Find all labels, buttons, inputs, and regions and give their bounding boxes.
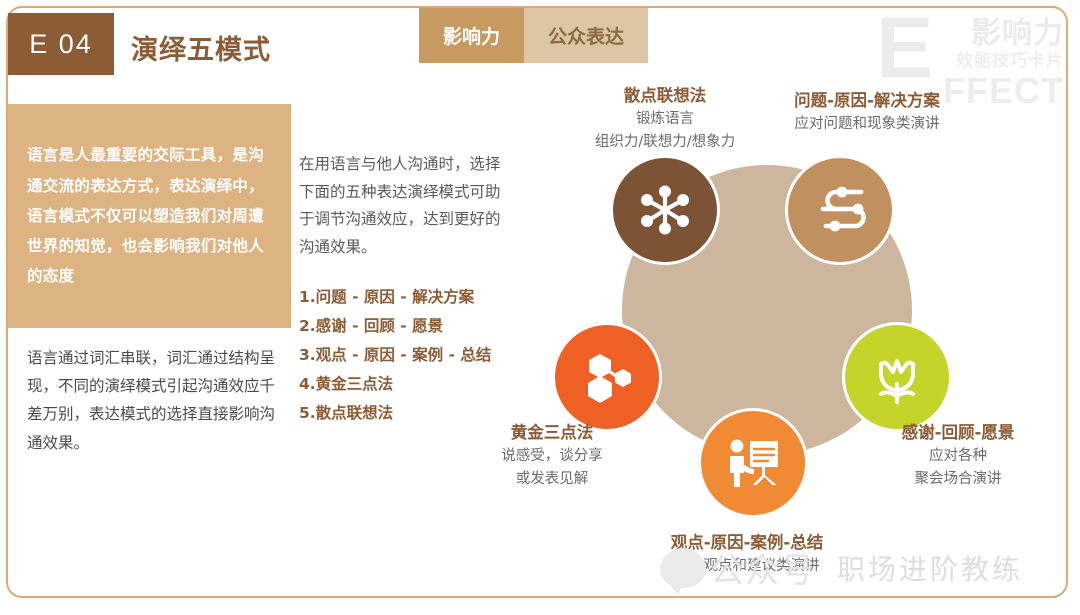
mode-list: 1.问题 - 原因 - 解决方案 2.感谢 - 回顾 - 愿景 3.观点 - 原… — [299, 283, 514, 428]
diagram-caption-gratitude: 感谢-回顾-愿景 应对各种 聚会场合演讲 — [868, 422, 1048, 489]
caption-title-gratitude: 感谢-回顾-愿景 — [868, 422, 1048, 444]
left-note-text: 语言通过词汇串联，词汇通过结构呈现，不同的演绎模式引起沟通效应千差万别，表达模式… — [27, 344, 277, 457]
tab-bar: 影响力 公众表达 — [419, 8, 648, 63]
diagram-node-viewpoint[interactable] — [698, 408, 808, 518]
diagram-node-problem[interactable] — [785, 155, 895, 265]
diagram-caption-problem: 问题-原因-解决方案 应对问题和现象类演讲 — [717, 90, 1017, 135]
tab-influence[interactable]: 影响力 — [419, 8, 524, 63]
caption-sub1-problem: 应对问题和现象类演讲 — [717, 114, 1017, 135]
diagram-caption-viewpoint: 观点-原因-案例-总结 应对观点和建议类演讲 — [617, 532, 877, 577]
lesson-badge: E 04 — [8, 13, 114, 75]
page-title: 演绎五模式 — [131, 28, 271, 67]
winding-path-icon — [811, 183, 869, 237]
highlight-callout-text: 语言是人最重要的交际工具，是沟通交流的表达方式，表达演绎中，语言模式不仅可以塑造… — [8, 140, 291, 291]
slide-canvas: E 04 演绎五模式 影响力 公众表达 E 影响力 效能技巧卡片 FFECT 语… — [0, 0, 1080, 615]
lesson-badge-label: E 04 — [29, 29, 93, 60]
caption-sub1-gratitude: 应对各种 — [868, 446, 1048, 467]
caption-sub1-viewpoint: 应对观点和建议类演讲 — [617, 556, 877, 577]
caption-title-golden: 黄金三点法 — [437, 422, 667, 444]
caption-sub2-scatter: 组织力/联想力/想象力 — [520, 132, 810, 153]
caption-sub2-gratitude: 聚会场合演讲 — [868, 469, 1048, 490]
diagram-node-scatter[interactable] — [610, 155, 720, 265]
mode-list-item-3: 3.观点 - 原因 - 案例 - 总结 — [299, 341, 514, 370]
five-mode-diagram: 散点联想法 锻炼语言 组织力/联想力/想象力 问题-原因-解决方案 应对问题和现… — [522, 60, 1022, 580]
brand-name-cn: 影响力 — [971, 8, 1064, 52]
mode-list-item-4: 4.黄金三点法 — [299, 370, 514, 399]
presenter-board-icon — [724, 436, 782, 490]
tulip-flower-icon — [868, 348, 926, 406]
caption-title-problem: 问题-原因-解决方案 — [717, 90, 1017, 112]
diagram-node-gratitude[interactable] — [842, 322, 952, 432]
tab-public-speaking[interactable]: 公众表达 — [524, 8, 648, 63]
hexagons-icon — [579, 349, 635, 405]
caption-sub2-golden: 或发表见解 — [437, 469, 667, 490]
intro-paragraph: 在用语言与他人沟通时，选择下面的五种表达演绎模式可助于调节沟通效应，达到更好的沟… — [299, 151, 504, 261]
network-nodes-icon — [637, 182, 693, 238]
diagram-caption-golden: 黄金三点法 说感受，谈分享 或发表见解 — [437, 422, 667, 489]
diagram-node-golden[interactable] — [552, 322, 662, 432]
mode-list-item-1: 1.问题 - 原因 - 解决方案 — [299, 283, 514, 312]
caption-title-viewpoint: 观点-原因-案例-总结 — [617, 532, 877, 554]
caption-sub1-golden: 说感受，谈分享 — [437, 446, 667, 467]
highlight-callout: 语言是人最重要的交际工具，是沟通交流的表达方式，表达演绎中，语言模式不仅可以塑造… — [8, 104, 291, 328]
mode-list-item-2: 2.感谢 - 回顾 - 愿景 — [299, 312, 514, 341]
